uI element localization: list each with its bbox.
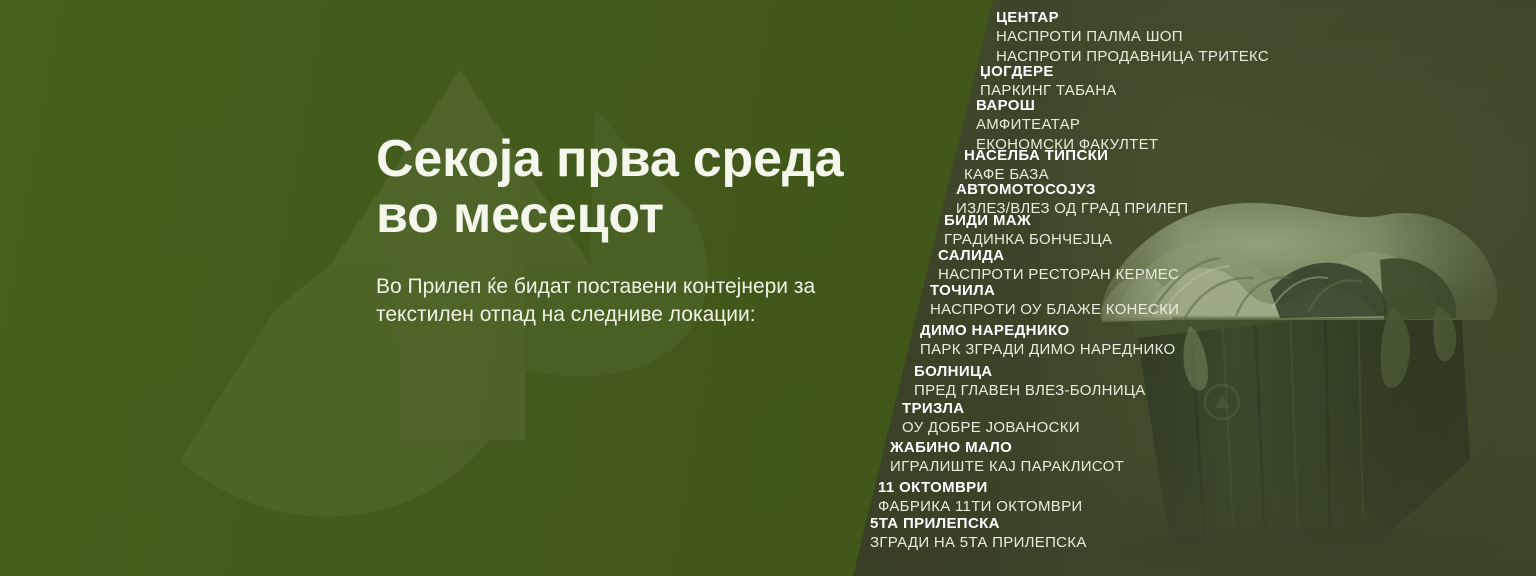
promo-banner: Секоја прва среда во месецот Во Прилеп ќ… — [0, 0, 1536, 576]
location-item: ЏОГДЕРЕПАРКИНГ ТАБАНА — [980, 62, 1117, 101]
location-name: ТРИЗЛА — [902, 399, 1080, 418]
location-name: НАСЕЛБА ТИПСКИ — [964, 146, 1108, 165]
location-name: БИДИ МАЖ — [944, 211, 1112, 230]
location-name: БОЛНИЦА — [914, 362, 1146, 381]
location-address: ЗГРАДИ НА 5ТА ПРИЛЕПСКА — [870, 533, 1087, 553]
location-item: ТОЧИЛАНАСПРОТИ ОУ БЛАЖЕ КОНЕСКИ — [930, 281, 1179, 320]
page-subtitle: Во Прилеп ќе бидат поставени контејнери … — [376, 273, 916, 329]
location-name: ТОЧИЛА — [930, 281, 1179, 300]
location-item: БИДИ МАЖГРАДИНКА БОНЧЕЈЦА — [944, 211, 1112, 250]
location-name: 11 ОКТОМВРИ — [878, 478, 1082, 497]
location-item: ДИМО НАРЕДНИКОПАРК ЗГРАДИ ДИМО НАРЕДНИКО — [920, 321, 1175, 360]
location-item: ТРИЗЛАОУ ДОБРЕ ЈОВАНОСКИ — [902, 399, 1080, 438]
location-item: НАСЕЛБА ТИПСКИКАФЕ БАЗА — [964, 146, 1108, 185]
location-address: ОУ ДОБРЕ ЈОВАНОСКИ — [902, 418, 1080, 438]
location-address: НАСПРОТИ ОУ БЛАЖЕ КОНЕСКИ — [930, 300, 1179, 320]
location-name: ДИМО НАРЕДНИКО — [920, 321, 1175, 340]
location-name: 5ТА ПРИЛЕПСКА — [870, 514, 1087, 533]
location-item: ЦЕНТАРНАСПРОТИ ПАЛМА ШОПНАСПРОТИ ПРОДАВН… — [996, 8, 1269, 66]
location-item: 11 ОКТОМВРИФАБРИКА 11ТИ ОКТОМВРИ — [878, 478, 1082, 517]
location-item: САЛИДАНАСПРОТИ РЕСТОРАН КЕРМЕС — [938, 246, 1179, 285]
location-address: АМФИТЕАТАР — [976, 115, 1158, 135]
headline-block: Секоја прва среда во месецот Во Прилеп ќ… — [376, 132, 916, 329]
page-title: Секоја прва среда во месецот — [376, 132, 916, 243]
location-item: 5ТА ПРИЛЕПСКАЗГРАДИ НА 5ТА ПРИЛЕПСКА — [870, 514, 1087, 553]
location-address: ПАРК ЗГРАДИ ДИМО НАРЕДНИКО — [920, 340, 1175, 360]
location-address: ИГРАЛИШТЕ КАЈ ПАРАКЛИСОТ — [890, 457, 1124, 477]
location-name: АВТОМОТОСОЈУЗ — [956, 180, 1188, 199]
location-name: ЖАБИНО МАЛО — [890, 438, 1124, 457]
location-item: ЖАБИНО МАЛОИГРАЛИШТЕ КАЈ ПАРАКЛИСОТ — [890, 438, 1124, 477]
location-name: ЏОГДЕРЕ — [980, 62, 1117, 81]
location-name: САЛИДА — [938, 246, 1179, 265]
location-item: БОЛНИЦАПРЕД ГЛАВЕН ВЛЕЗ-БОЛНИЦА — [914, 362, 1146, 401]
location-address: НАСПРОТИ ПАЛМА ШОП — [996, 27, 1269, 47]
location-name: ЦЕНТАР — [996, 8, 1269, 27]
location-name: ВАРОШ — [976, 96, 1158, 115]
location-address: ПРЕД ГЛАВЕН ВЛЕЗ-БОЛНИЦА — [914, 381, 1146, 401]
